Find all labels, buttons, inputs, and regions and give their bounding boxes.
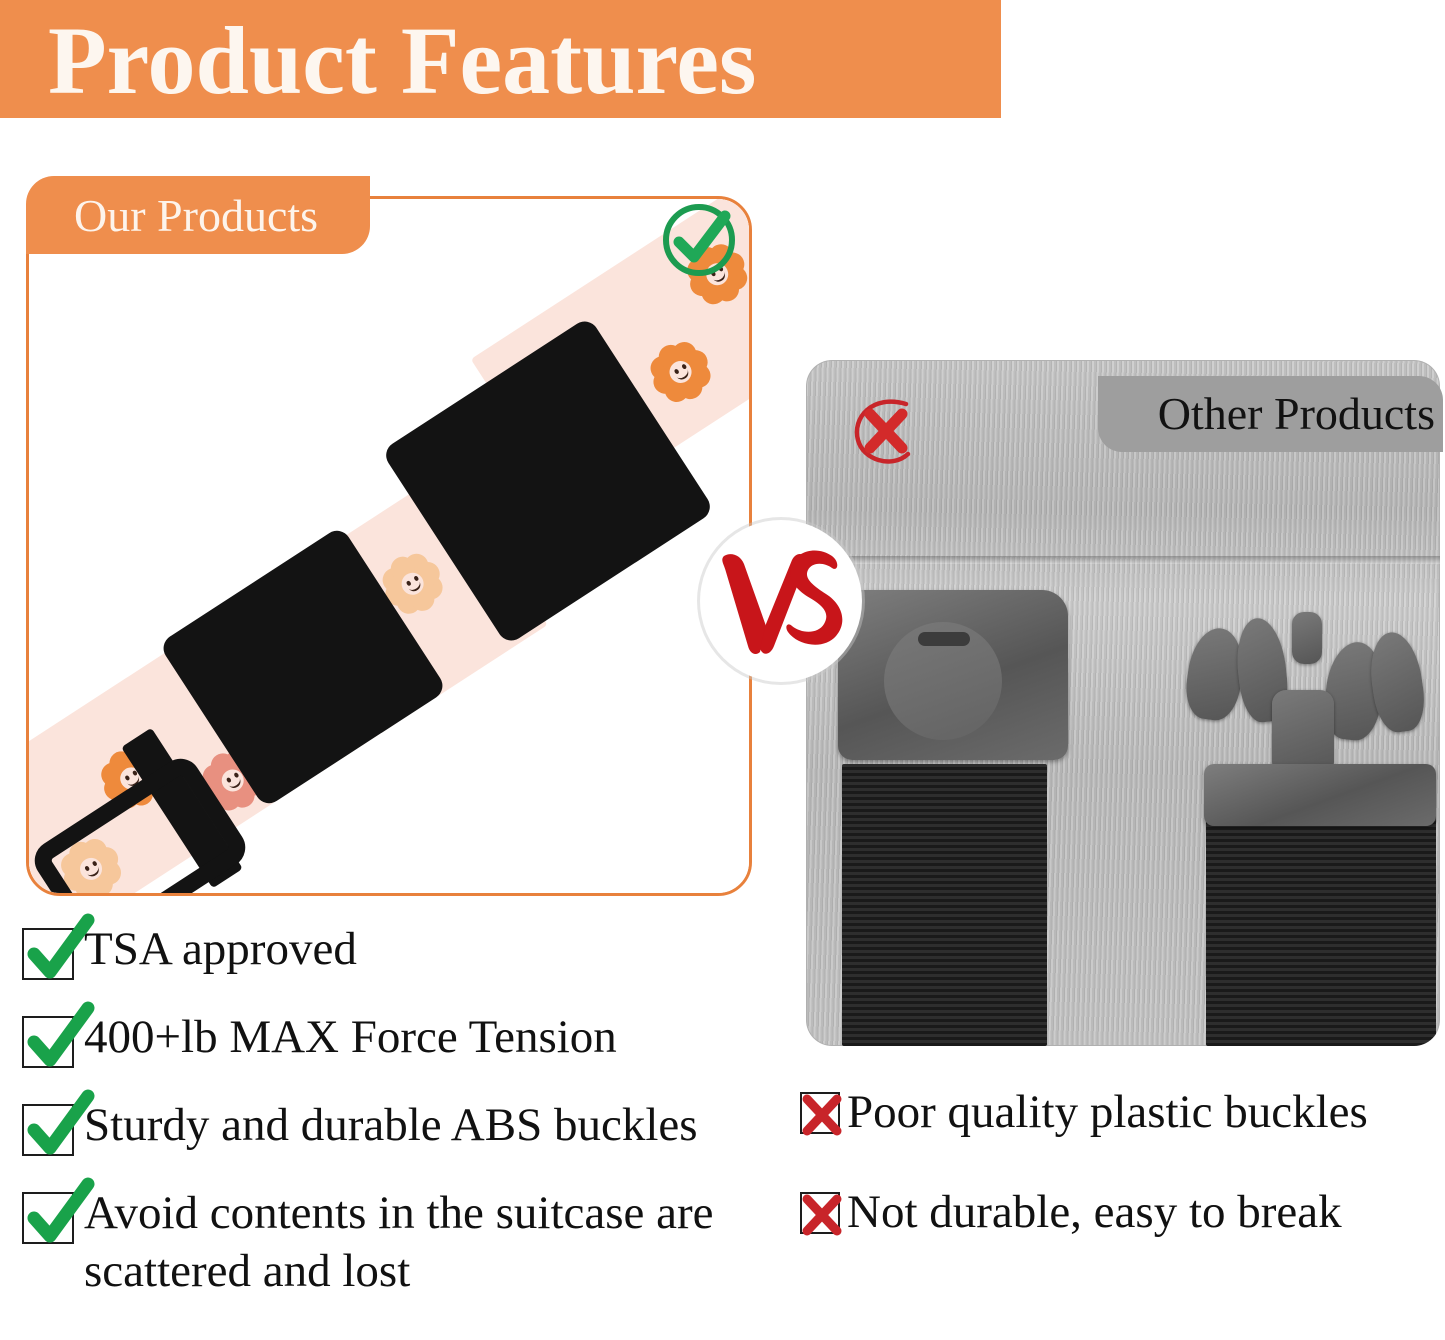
list-item: Poor quality plastic buckles xyxy=(800,1083,1440,1141)
wood-seam xyxy=(806,556,1440,564)
gray-plastic-buckle-right xyxy=(1204,764,1436,826)
green-check-circle-icon xyxy=(655,196,743,284)
cons-list: Poor quality plastic buckles Not durable… xyxy=(800,1083,1440,1283)
green-check-box-icon xyxy=(22,1016,74,1068)
green-check-box-icon xyxy=(22,928,74,980)
red-x-box-icon xyxy=(800,1092,840,1134)
flower-icon xyxy=(29,838,33,893)
pro-item-label: Avoid contents in the suitcase are scatt… xyxy=(84,1184,724,1300)
flower-icon xyxy=(640,332,720,412)
red-x-box-icon xyxy=(800,1192,840,1234)
versus-badge xyxy=(700,520,862,682)
con-item-label: Poor quality plastic buckles xyxy=(847,1083,1368,1141)
black-webbing-strap-right xyxy=(1206,812,1436,1046)
other-products-tab: Other Products xyxy=(1098,376,1443,452)
black-webbing-strap-left xyxy=(842,764,1047,1046)
list-item: 400+lb MAX Force Tension xyxy=(22,1008,812,1068)
list-item: TSA approved xyxy=(22,920,812,980)
pros-list: TSA approved 400+lb MAX Force Tension St… xyxy=(22,920,812,1328)
header-banner: Product Features xyxy=(0,0,1001,118)
our-products-tab-label: Our Products xyxy=(74,190,318,242)
list-item: Avoid contents in the suitcase are scatt… xyxy=(22,1184,812,1300)
broken-clip-piece xyxy=(1292,612,1322,664)
red-x-circle-icon xyxy=(846,390,928,472)
green-check-box-icon xyxy=(22,1192,74,1244)
pro-item-label: TSA approved xyxy=(84,920,357,978)
our-products-photo xyxy=(29,199,749,893)
list-item: Sturdy and durable ABS buckles xyxy=(22,1096,812,1156)
con-item-label: Not durable, easy to break xyxy=(847,1183,1342,1241)
page-title: Product Features xyxy=(48,6,756,116)
our-products-tab: Our Products xyxy=(26,176,370,254)
green-check-box-icon xyxy=(22,1104,74,1156)
pro-item-label: Sturdy and durable ABS buckles xyxy=(84,1096,698,1154)
gray-buckle-slot xyxy=(918,632,970,646)
other-products-tab-label: Other Products xyxy=(1158,386,1435,442)
pro-item-label: 400+lb MAX Force Tension xyxy=(84,1008,617,1066)
our-products-panel xyxy=(26,196,752,896)
list-item: Not durable, easy to break xyxy=(800,1183,1440,1241)
